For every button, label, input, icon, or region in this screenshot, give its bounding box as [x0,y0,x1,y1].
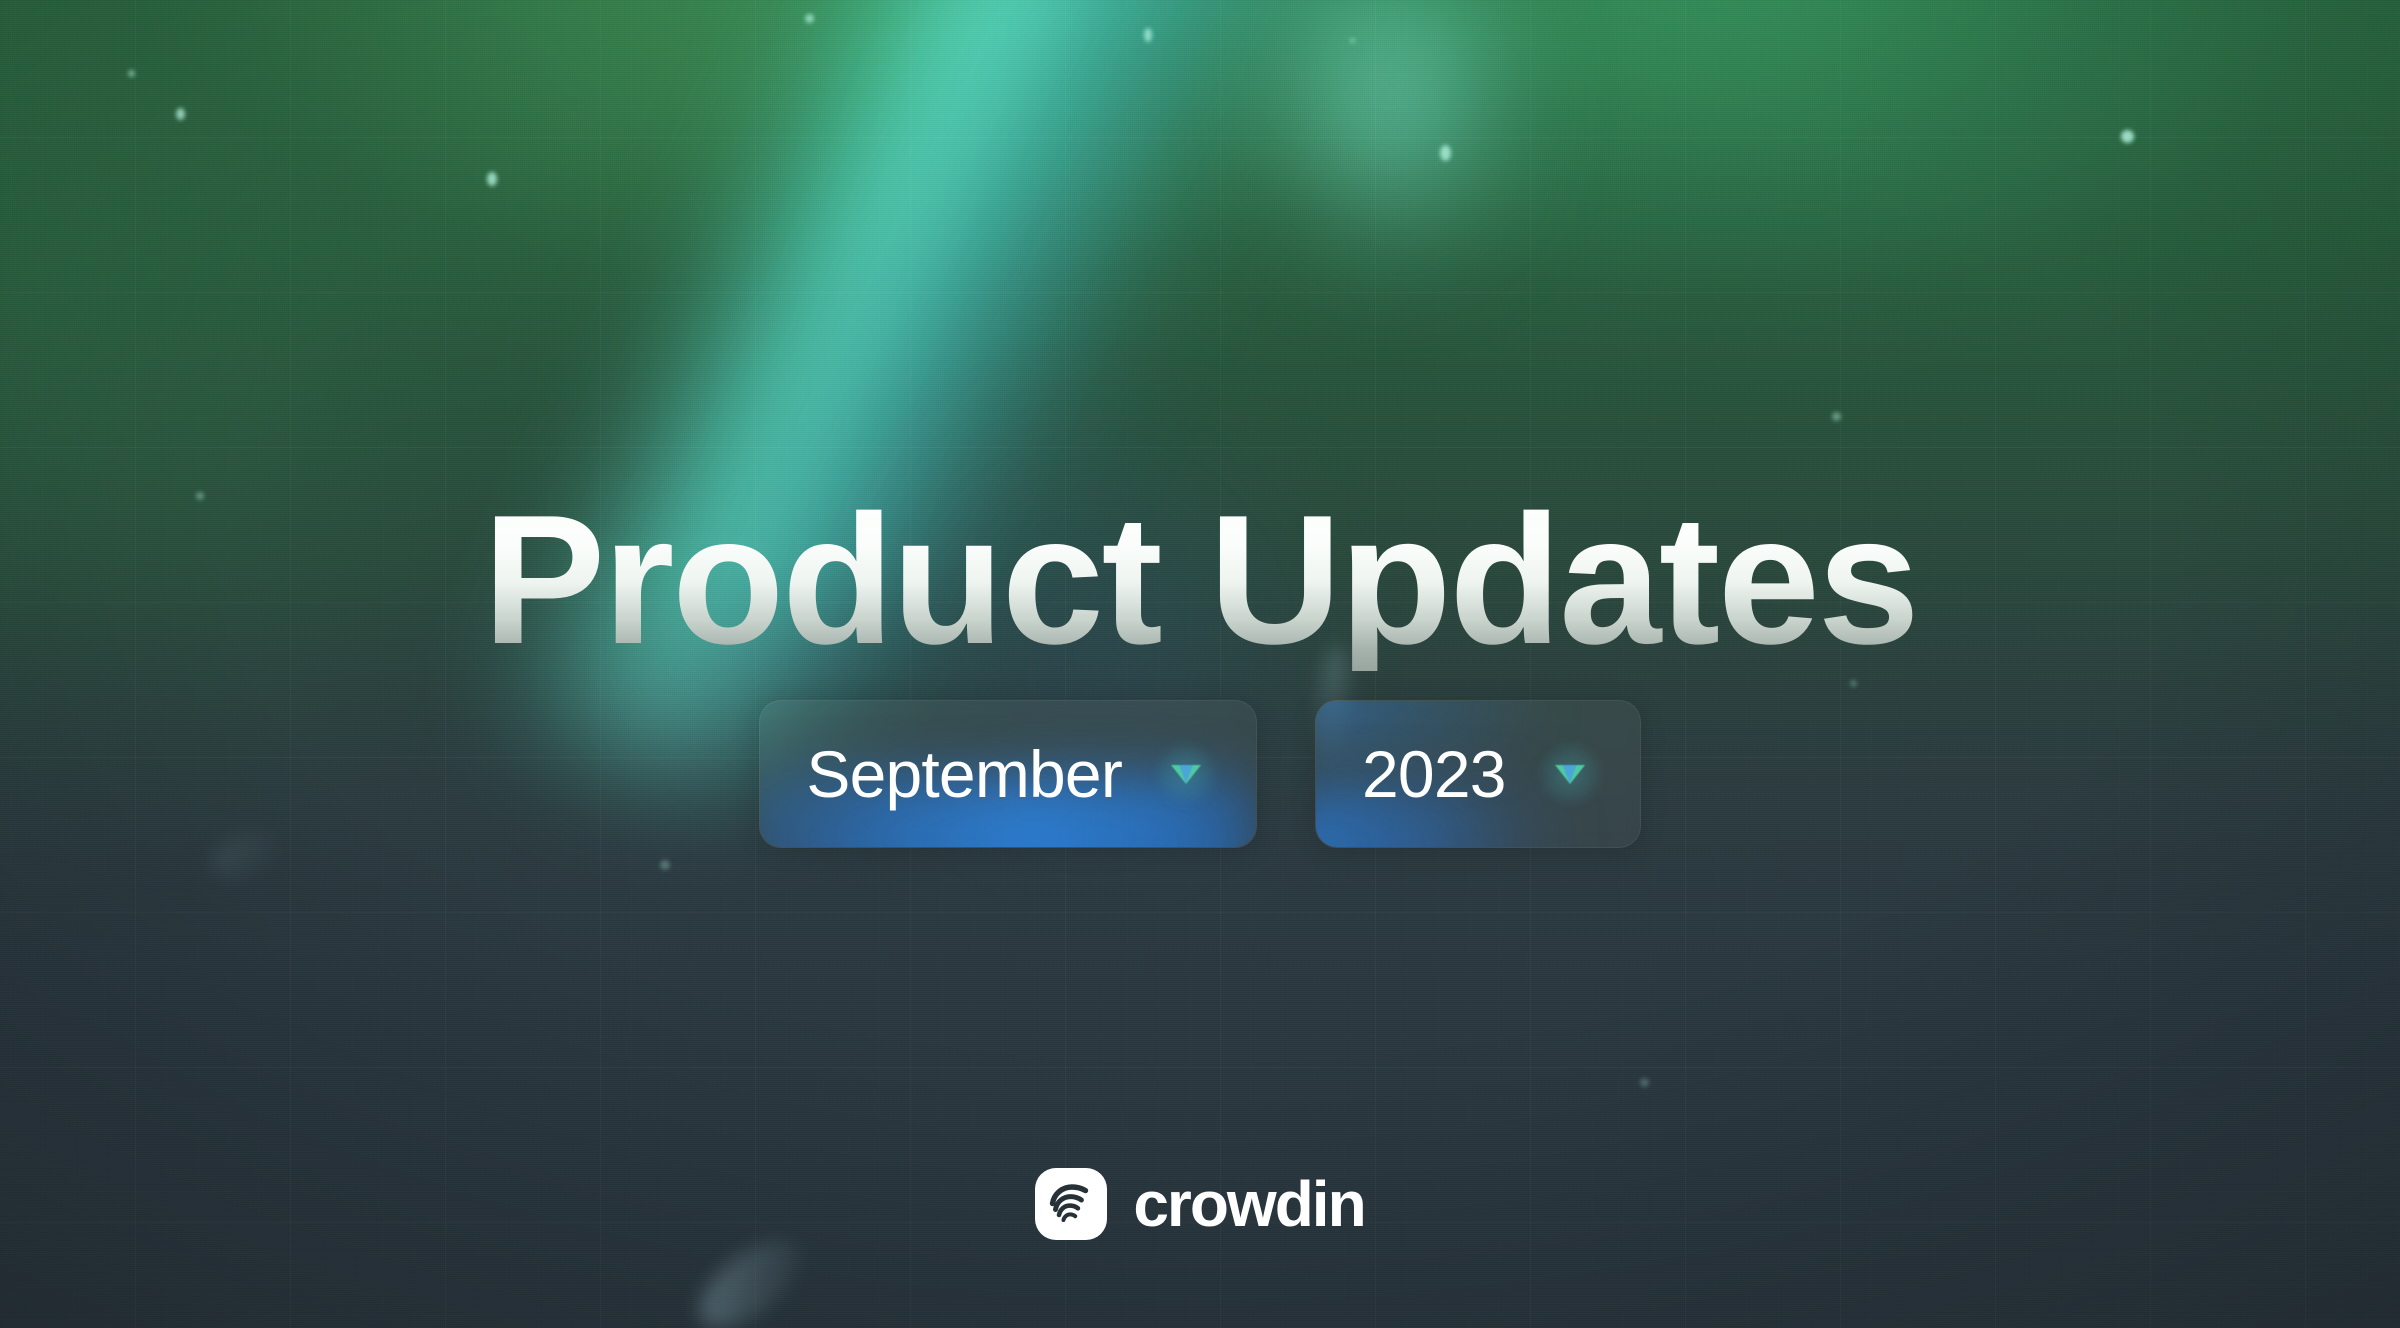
hero-content: Product Updates September 2023 [0,0,2400,1328]
brand-logo: crowdin [0,1168,2400,1240]
hero-banner: Product Updates September 2023 [0,0,2400,1328]
brand-name: crowdin [1133,1172,1364,1236]
chevron-triangle [1171,765,1201,784]
month-dropdown[interactable]: September [759,700,1257,848]
page-title: Product Updates [0,487,2400,671]
period-selectors: September 2023 [0,700,2400,848]
year-dropdown[interactable]: 2023 [1315,700,1641,848]
month-dropdown-value: September [806,741,1122,807]
year-dropdown-value: 2023 [1362,741,1506,807]
chevron-down-icon[interactable] [1540,744,1600,804]
chevron-down-icon[interactable] [1156,744,1216,804]
crowdin-logo-icon [1035,1168,1107,1240]
chevron-triangle [1555,765,1585,784]
